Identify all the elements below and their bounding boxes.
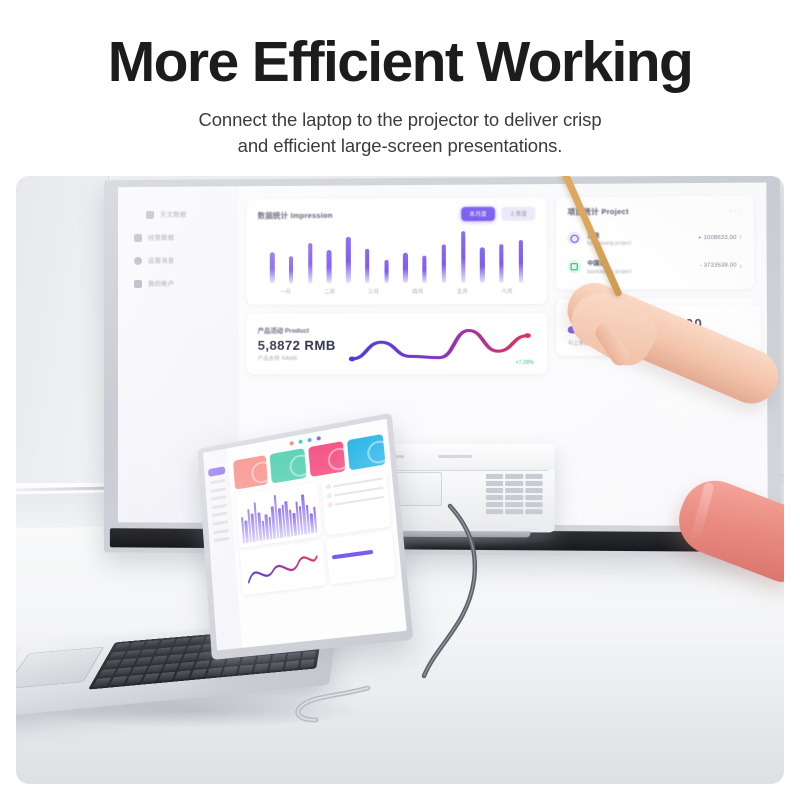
bar: [422, 256, 427, 283]
bar-column: [321, 229, 338, 283]
toggle-last-quarter[interactable]: 上季度: [501, 206, 535, 221]
keyboard-key[interactable]: [225, 657, 241, 666]
month-label: 一月: [280, 289, 291, 296]
project-amount-value: + 1008633.00: [698, 235, 737, 241]
project-card: 项目统计 Project ··· 互联 baotuwang project: [556, 196, 754, 290]
grid-icon: [146, 210, 154, 218]
subtitle-line-2: and efficient large-screen presentations…: [238, 135, 563, 156]
keyboard-key[interactable]: [93, 677, 112, 687]
project-card-header: 项目统计 Project ···: [567, 205, 742, 217]
project-row-name: 互联: [587, 230, 692, 240]
sidebar-item-label: 天文数据: [160, 210, 186, 219]
keyboard-key[interactable]: [300, 659, 315, 668]
keyboard-key[interactable]: [185, 644, 201, 652]
presenter-arm: [534, 296, 784, 596]
sidebar-item-label: 运营消息: [148, 256, 174, 265]
keyboard-key[interactable]: [301, 651, 316, 660]
bar-column: [493, 228, 510, 283]
keyboard-key[interactable]: [189, 636, 205, 644]
bar: [308, 244, 312, 284]
keyboard-key[interactable]: [286, 652, 301, 661]
keyboard-key[interactable]: [159, 639, 176, 647]
bar: [327, 250, 331, 284]
keyboard-key[interactable]: [162, 663, 179, 672]
laptop-device: [34, 444, 454, 744]
keyboard-key[interactable]: [238, 665, 254, 674]
project-avatar-icon: [568, 260, 582, 273]
bar-column: [512, 228, 529, 283]
impression-toggle-group: 本月度 上季度: [461, 206, 535, 221]
bar-column: [378, 229, 395, 284]
impression-month-labels: 一月二月三月四月五月六月: [258, 283, 536, 296]
keyboard-key[interactable]: [174, 670, 191, 679]
keyboard-key[interactable]: [113, 643, 130, 651]
keyboard-key[interactable]: [271, 653, 286, 662]
month-label: 六月: [501, 288, 512, 295]
keyboard-key[interactable]: [126, 675, 144, 685]
product-wave-svg: [344, 323, 536, 366]
bar: [365, 249, 370, 283]
keyboard-key[interactable]: [142, 673, 160, 683]
bar: [403, 252, 408, 283]
bar-column: [264, 230, 281, 284]
bar: [289, 257, 293, 284]
bar: [461, 231, 466, 283]
keyboard-key[interactable]: [269, 662, 284, 671]
arrow-down-icon: ↓: [739, 262, 743, 269]
bar-column: [283, 229, 300, 283]
project-row-sub: baotuwang project: [587, 240, 692, 247]
headline-block: More Efficient Working Connect the lapto…: [0, 34, 800, 160]
bar: [442, 245, 447, 284]
product-card-value: 5,8872 RMB: [258, 338, 336, 353]
bar: [519, 240, 524, 283]
bar-column: [474, 228, 491, 283]
month-label: 五月: [457, 288, 468, 295]
sidebar-item-0[interactable]: 天文数据: [118, 202, 238, 226]
forearm: [559, 275, 784, 412]
sidebar-item-3[interactable]: 我的账户: [118, 272, 238, 295]
month-label: 四月: [412, 288, 423, 295]
bar: [346, 237, 351, 284]
keyboard-key[interactable]: [222, 666, 238, 675]
product-photo: 天文数据 经营数据 运营消息 我的账户: [16, 176, 784, 784]
keyboard-key[interactable]: [194, 660, 211, 669]
bar-column: [302, 229, 319, 283]
project-row-amount: - 3733538.00 ↓: [700, 262, 743, 269]
keyboard-key[interactable]: [240, 656, 256, 665]
project-row-text: 互联 baotuwang project: [587, 230, 692, 247]
keyboard-key[interactable]: [151, 655, 168, 664]
product-card-sub: 产品名称 NAME: [258, 355, 336, 362]
project-row[interactable]: 中国话 baotuwang project - 3733538.00 ↓: [568, 252, 743, 281]
user-icon: [134, 279, 142, 287]
product-delta: +7.28%: [515, 360, 533, 366]
keyboard-key[interactable]: [209, 659, 225, 668]
impression-bar-chart: [258, 228, 536, 284]
impression-card: 数据统计 Impression 本月度 上季度 一月二月三月四月五月六月: [247, 197, 548, 305]
keyboard-key[interactable]: [158, 672, 176, 681]
laptop-screen-gloss: [203, 419, 407, 651]
subtitle-line-1: Connect the laptop to the projector to d…: [198, 109, 601, 130]
project-amount-value: - 3733538.00: [700, 263, 737, 269]
hand: [562, 282, 665, 374]
keyboard-key[interactable]: [109, 676, 128, 686]
bar-column: [340, 229, 357, 284]
keyboard-key[interactable]: [253, 663, 269, 672]
product-marketing-page: More Efficient Working Connect the lapto…: [0, 0, 800, 800]
project-row-amount: + 1008633.00 ↑: [698, 234, 742, 241]
keyboard-key[interactable]: [174, 638, 190, 646]
bar-column: [454, 229, 471, 284]
bar: [384, 260, 389, 284]
product-card-label: 产品活动 Product: [258, 326, 336, 335]
sleeve: [669, 471, 784, 587]
keyboard-key[interactable]: [146, 664, 164, 673]
bar-column: [416, 229, 433, 284]
chart-icon: [134, 233, 142, 241]
laptop-lid: [197, 413, 413, 660]
bar-column: [435, 229, 452, 284]
product-card: 产品活动 Product 5,8872 RMB 产品名称 NAME: [247, 313, 548, 374]
keyboard-key[interactable]: [155, 647, 172, 656]
keyboard-key[interactable]: [103, 660, 121, 669]
sidebar-item-1[interactable]: 经营数据: [118, 225, 238, 249]
sidebar-item-2[interactable]: 运营消息: [118, 248, 238, 272]
sidebar-item-label: 经营数据: [148, 233, 174, 242]
keyboard-key[interactable]: [178, 661, 195, 670]
page-subtitle: Connect the laptop to the projector to d…: [80, 107, 720, 160]
keyboard-key[interactable]: [256, 655, 271, 664]
bar-column: [397, 229, 414, 284]
toggle-this-month[interactable]: 本月度: [461, 207, 495, 222]
product-wave-chart: +7.28%: [344, 323, 536, 366]
thumb: [592, 320, 632, 368]
keyboard-key[interactable]: [190, 669, 207, 678]
bar-column: [359, 229, 376, 284]
bar: [480, 247, 485, 283]
more-options-icon[interactable]: ···: [729, 206, 742, 215]
month-label: 二月: [324, 289, 335, 296]
keyboard-key[interactable]: [166, 654, 183, 663]
keyboard-key[interactable]: [206, 667, 223, 676]
bar: [499, 244, 504, 283]
project-avatar-icon: [568, 232, 581, 245]
keyboard-key[interactable]: [182, 653, 199, 662]
impression-card-header: 数据统计 Impression 本月度 上季度: [258, 206, 536, 222]
sidebar-item-label: 我的账户: [148, 279, 174, 288]
month-label: 三月: [368, 289, 379, 296]
keyboard-key[interactable]: [284, 660, 299, 669]
product-card-left: 产品活动 Product 5,8872 RMB 产品名称 NAME: [258, 326, 336, 362]
impression-card-title: 数据统计 Impression: [258, 209, 333, 221]
page-title: More Efficient Working: [0, 34, 800, 91]
arrow-up-icon: ↑: [739, 234, 743, 241]
product-card-body: 产品活动 Product 5,8872 RMB 产品名称 NAME: [258, 323, 536, 366]
bar: [270, 252, 274, 283]
gear-icon: [134, 256, 142, 264]
laptop-screen: [203, 419, 407, 651]
keyboard-key[interactable]: [170, 646, 187, 655]
